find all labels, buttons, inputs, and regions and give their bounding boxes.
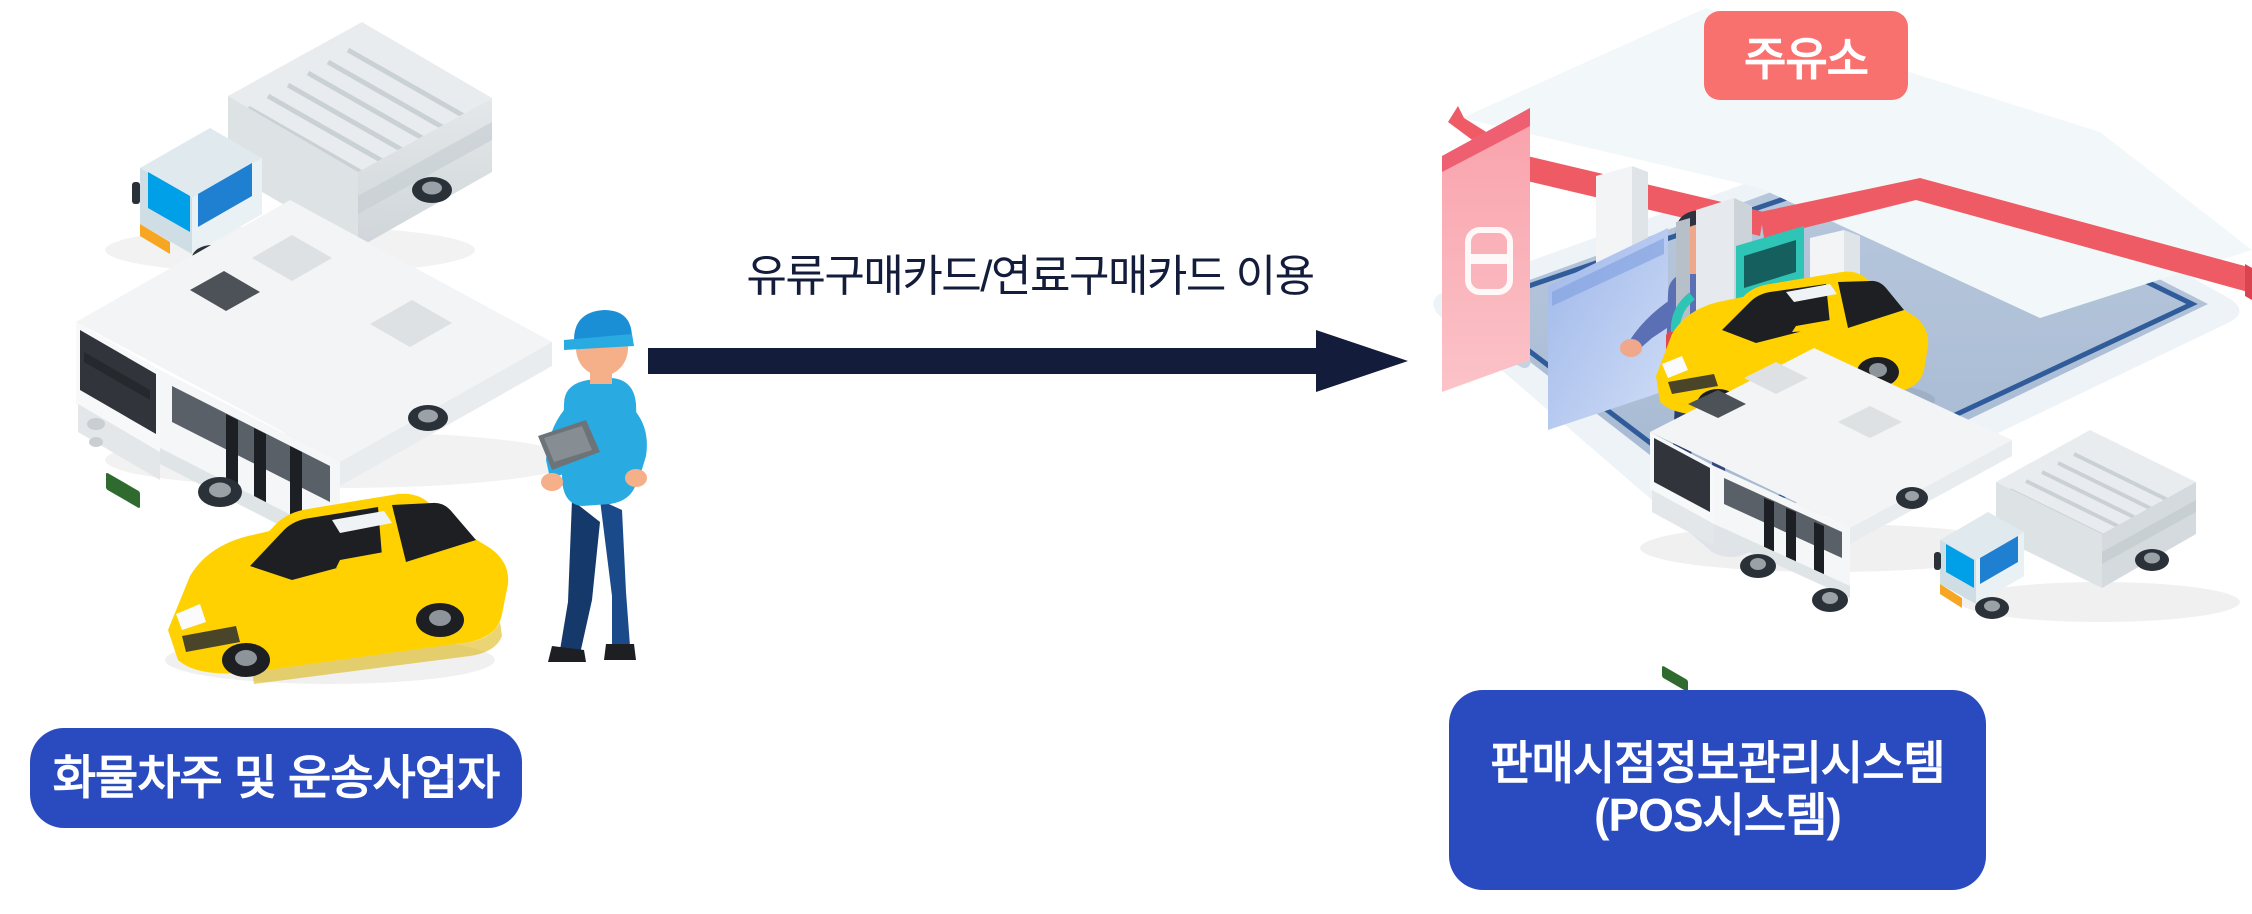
right-illustration xyxy=(1400,0,2252,690)
yellow-taxi-icon xyxy=(165,494,508,684)
node-target-line1: 판매시점정보관리시스템 xyxy=(1490,739,1945,789)
node-target-label: 판매시점정보관리시스템 (POS시스템) xyxy=(1449,690,1986,890)
node-source-label: 화물차주 및 운송사업자 xyxy=(30,728,522,828)
gas-station-badge: 주유소 xyxy=(1704,11,1908,100)
driver-worker-icon xyxy=(538,310,647,662)
node-target-line2: (POS시스템) xyxy=(1594,791,1841,841)
flow-caption: 유류구매카드/연료구매카드 이용 xyxy=(660,240,1400,304)
left-illustration xyxy=(40,0,680,720)
flow-arrow xyxy=(648,330,1408,392)
diagram-canvas: 유류구매카드/연료구매카드 이용 주유소 화물차주 및 운송사업자 판매시점정보… xyxy=(0,0,2252,914)
card-panel xyxy=(1442,108,1530,392)
